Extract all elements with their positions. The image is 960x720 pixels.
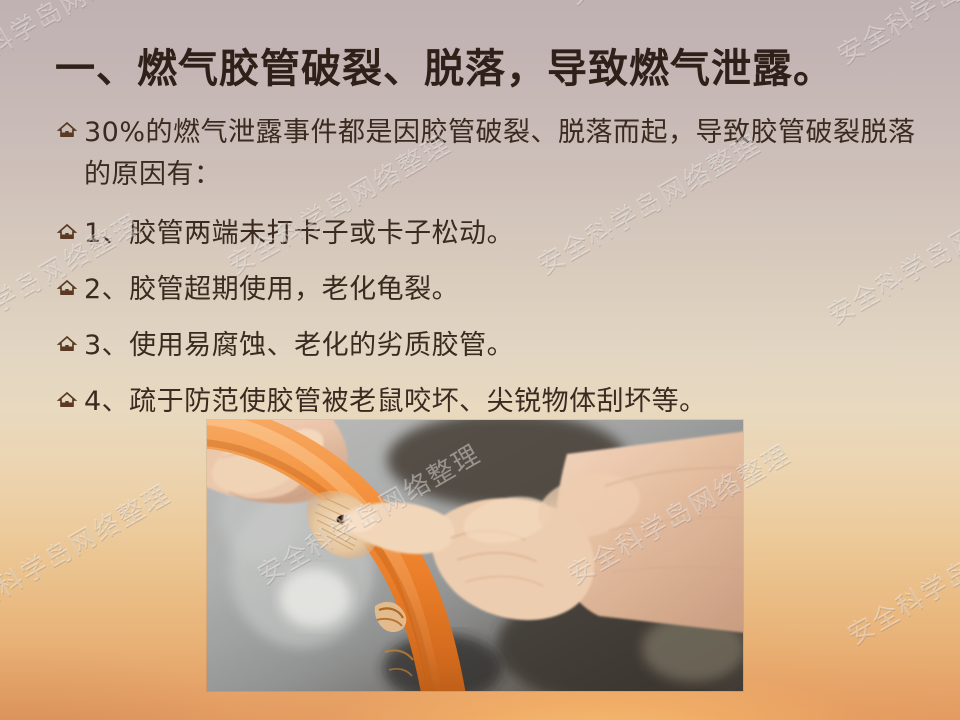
watermark-text: 安全科学岛网络整理: [830, 0, 960, 72]
list-item: 1、胶管两端未打卡子或卡子松动。: [56, 214, 936, 254]
watermark-text: 安全科学岛网络整理: [0, 474, 177, 632]
list-item-label: 4、疏于防范使胶管被老鼠咬坏、尖锐物体刮坏等。: [84, 382, 707, 422]
list-item: 3、使用易腐蚀、老化的劣质胶管。: [56, 326, 936, 366]
bullet-list: 30%的燃气泄露事件都是因胶管破裂、脱落而起，导致胶管破裂脱落的原因有： 1、胶…: [56, 112, 936, 438]
list-item-label: 30%的燃气泄露事件都是因胶管破裂、脱落而起，导致胶管破裂脱落的原因有：: [84, 112, 924, 196]
list-item: 30%的燃气泄露事件都是因胶管破裂、脱落而起，导致胶管破裂脱落的原因有：: [56, 112, 936, 196]
list-item-label: 1、胶管两端未打卡子或卡子松动。: [84, 214, 514, 254]
watermark-text: 安全科学岛网络整理: [240, 0, 477, 2]
list-item: 2、胶管超期使用，老化龟裂。: [56, 270, 936, 310]
list-item-label: 2、胶管超期使用，老化龟裂。: [84, 270, 459, 310]
list-item: 4、疏于防范使胶管被老鼠咬坏、尖锐物体刮坏等。: [56, 382, 936, 422]
watermark-text: 安全科学岛网络整理: [560, 0, 797, 12]
house-bullet-icon: [56, 277, 78, 307]
slide-title: 一、燃气胶管破裂、脱落，导致燃气泄露。: [55, 36, 834, 94]
house-bullet-icon: [56, 389, 78, 419]
damaged-orange-gas-hose-photo: [207, 420, 743, 691]
house-bullet-icon: [56, 333, 78, 363]
slide-canvas: 一、燃气胶管破裂、脱落，导致燃气泄露。 30%的燃气泄露事件都是因胶管破裂、脱落…: [0, 0, 960, 720]
house-bullet-icon: [56, 119, 78, 149]
watermark-text: 安全科学岛网络整理: [840, 494, 960, 652]
house-bullet-icon: [56, 221, 78, 251]
list-item-label: 3、使用易腐蚀、老化的劣质胶管。: [84, 326, 514, 366]
